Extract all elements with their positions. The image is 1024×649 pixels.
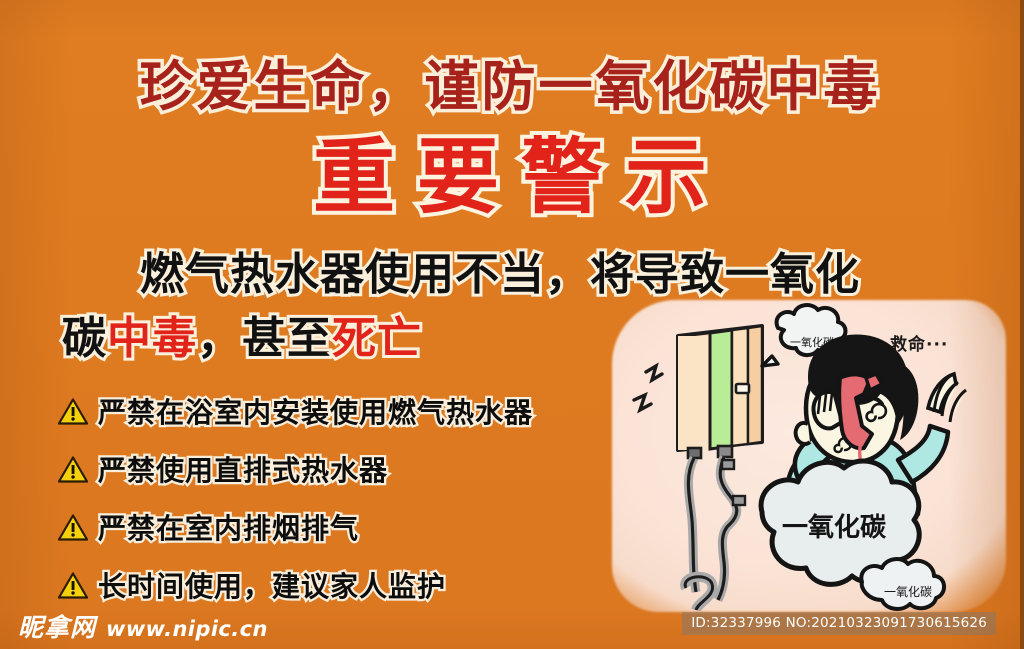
warning-triangle-icon — [58, 572, 88, 599]
warning-triangle-icon — [58, 514, 88, 541]
illustration-artwork: 一氧化碳 救命··· — [612, 300, 1006, 612]
list-item: 严禁在浴室内安装使用燃气热水器 — [58, 382, 678, 440]
list-item: 长时间使用，建议家人监护 — [58, 556, 678, 614]
warning-bullet-list: 严禁在浴室内安装使用燃气热水器 严禁使用直排式热水器 严禁在室内排烟排气 — [58, 382, 678, 614]
gas-pipes-icon — [685, 457, 745, 610]
lead-line-1: 燃气热水器使用不当，将导致一氧化 — [0, 238, 1020, 302]
lead-line-2-part-c: ，甚至 — [197, 313, 332, 364]
list-item: 严禁使用直排式热水器 — [58, 440, 678, 498]
lead-line-2: 碳中毒，甚至死亡 — [62, 302, 422, 366]
gas-water-heater-co-poisoning-illustration: 一氧化碳 救命··· — [612, 300, 1006, 612]
co-cloud-small-bottom-label: 一氧化碳 — [884, 585, 932, 599]
list-item-label: 严禁在浴室内安装使用燃气热水器 — [98, 391, 533, 431]
heat-marks-icon — [634, 366, 662, 410]
watermark: 昵拿网 www.nipic.cn — [18, 615, 268, 641]
lead-line-2-highlight-poison: 中毒 — [107, 313, 197, 364]
lead-line-2-part-a: 碳 — [62, 313, 107, 364]
watermark-url: www.nipic.cn — [106, 617, 268, 641]
list-item-label: 严禁使用直排式热水器 — [98, 449, 388, 489]
warning-triangle-icon — [58, 398, 88, 425]
poster-canvas: 珍爱生命，谨防一氧化碳中毒 重要警示 燃气热水器使用不当，将导致一氧化 碳中毒，… — [0, 0, 1024, 649]
status-badge: ID:32337996 NO:20210323091730615626 — [682, 612, 996, 635]
lead-line-2-highlight-death: 死亡 — [332, 313, 422, 364]
list-item: 严禁在室内排烟排气 — [58, 498, 678, 556]
page-title-alert: 重要警示 — [0, 110, 1020, 229]
co-cloud-small-bottom: 一氧化碳 — [861, 559, 944, 609]
water-heater-icon — [678, 326, 762, 458]
list-item-label: 严禁在室内排烟排气 — [98, 507, 359, 547]
warning-triangle-icon — [58, 456, 88, 483]
watermark-logo: 昵拿网 — [18, 615, 96, 640]
co-cloud-big-label: 一氧化碳 — [782, 513, 887, 543]
list-item-label: 长时间使用，建议家人监护 — [98, 565, 446, 605]
help-text: 救命··· — [890, 334, 948, 355]
